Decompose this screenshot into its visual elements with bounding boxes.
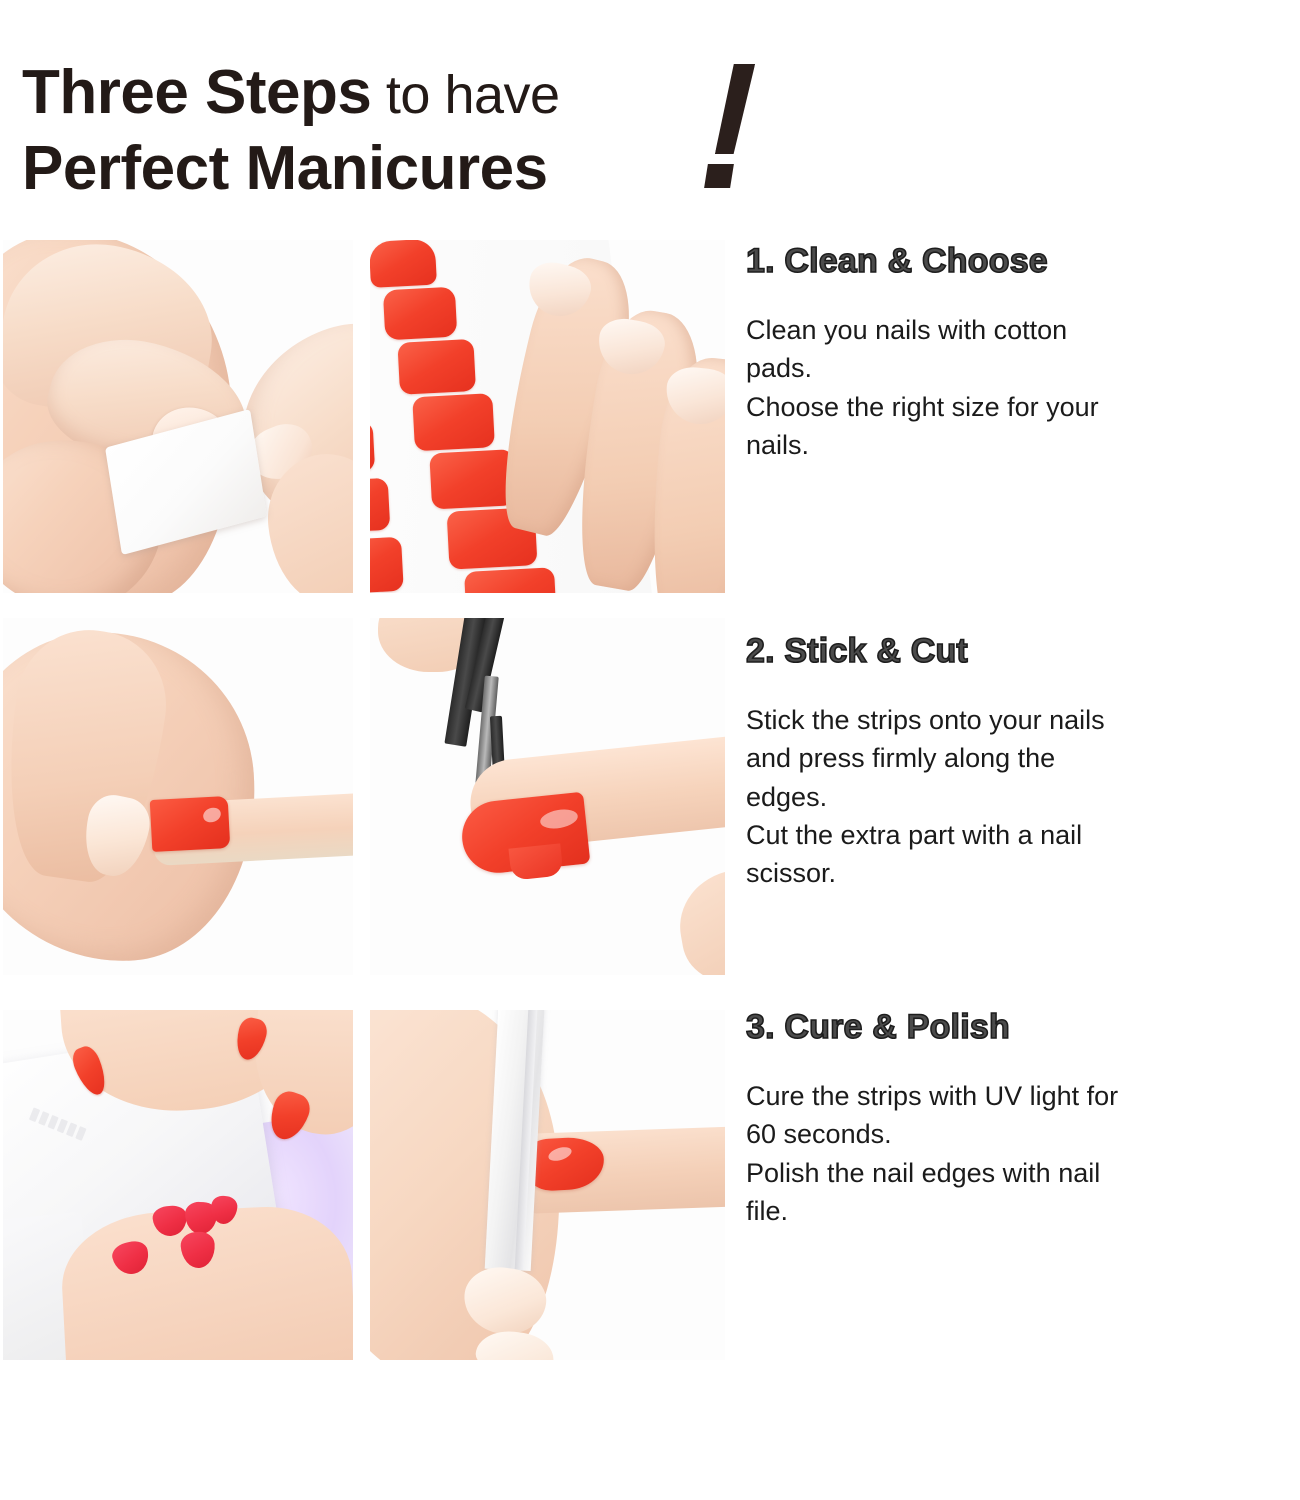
step-3-line-3: Polish the nail edges with nail bbox=[746, 1154, 1294, 1192]
nail-strip bbox=[412, 393, 495, 451]
step-1-line-2: pads. bbox=[746, 349, 1294, 387]
step-1-line-4: nails. bbox=[746, 426, 1294, 464]
exclamation-stem bbox=[715, 64, 755, 154]
red-strip-shape bbox=[150, 796, 231, 852]
step-1-body: Clean you nails with cotton pads. Choose… bbox=[746, 311, 1294, 464]
step-2-line-4: Cut the extra part with a nail bbox=[746, 816, 1294, 854]
nail-strip bbox=[370, 537, 404, 593]
exclamation-dot bbox=[704, 164, 734, 188]
title-line1-strong: Three Steps bbox=[22, 58, 371, 127]
exclamation-mark-icon bbox=[700, 64, 770, 189]
step-1-line-3: Choose the right size for your bbox=[746, 388, 1294, 426]
step-3-heading: 3. Cure & Polish bbox=[746, 1008, 1294, 1047]
step-row-2: 2. Stick & Cut Stick the strips onto you… bbox=[0, 618, 1300, 1010]
step-3-line-4: file. bbox=[746, 1192, 1294, 1230]
photo-cut-with-scissor bbox=[370, 618, 725, 975]
title-line2-strong: Perfect Manicures bbox=[22, 134, 548, 203]
excess-strip-tab bbox=[508, 843, 563, 880]
nail-strip bbox=[370, 240, 437, 288]
step-row-1: 1. Clean & Choose Clean you nails with c… bbox=[0, 240, 1300, 618]
step-3-body: Cure the strips with UV light for 60 sec… bbox=[746, 1077, 1294, 1230]
step-2-heading: 2. Stick & Cut bbox=[746, 632, 1294, 671]
nail-strip bbox=[464, 567, 557, 593]
step-2-line-1: Stick the strips onto your nails bbox=[746, 701, 1294, 739]
header-banner: Three Steps to have Perfect Manicures bbox=[0, 0, 1300, 230]
step-2-line-5: scissor. bbox=[746, 854, 1294, 892]
step-2-text: 2. Stick & Cut Stick the strips onto you… bbox=[746, 632, 1294, 893]
step-2-body: Stick the strips onto your nails and pre… bbox=[746, 701, 1294, 893]
photo-stick-strip bbox=[3, 618, 353, 975]
step-1-heading: 1. Clean & Choose bbox=[746, 242, 1294, 281]
nail-strip bbox=[370, 478, 390, 533]
step-3-line-2: 60 seconds. bbox=[746, 1115, 1294, 1153]
step-row-3: 3. Cure & Polish Cure the strips with UV… bbox=[0, 1010, 1300, 1365]
nail-strip bbox=[370, 421, 375, 474]
step-3-text: 3. Cure & Polish Cure the strips with UV… bbox=[746, 1008, 1294, 1230]
lower-thumb-shape bbox=[671, 860, 725, 975]
photo-clean-with-cotton-pad bbox=[3, 240, 353, 593]
nail-strip bbox=[397, 339, 476, 395]
photo-polish-with-nail-file bbox=[370, 1010, 725, 1360]
steps-grid: 1. Clean & Choose Clean you nails with c… bbox=[0, 240, 1300, 1365]
photo-nail-strip-sheet bbox=[370, 240, 725, 593]
step-2-line-3: edges. bbox=[746, 778, 1294, 816]
page-title: Three Steps to have Perfect Manicures bbox=[22, 62, 560, 200]
step-1-text: 1. Clean & Choose Clean you nails with c… bbox=[746, 242, 1294, 464]
nail-strip bbox=[383, 287, 458, 341]
title-line1-light: to have bbox=[371, 65, 559, 125]
step-1-line-1: Clean you nails with cotton bbox=[746, 311, 1294, 349]
step-3-line-1: Cure the strips with UV light for bbox=[746, 1077, 1294, 1115]
hand-fingers-group bbox=[502, 240, 725, 510]
photo-uv-lamp-curing bbox=[3, 1010, 353, 1360]
step-2-line-2: and press firmly along the bbox=[746, 739, 1294, 777]
